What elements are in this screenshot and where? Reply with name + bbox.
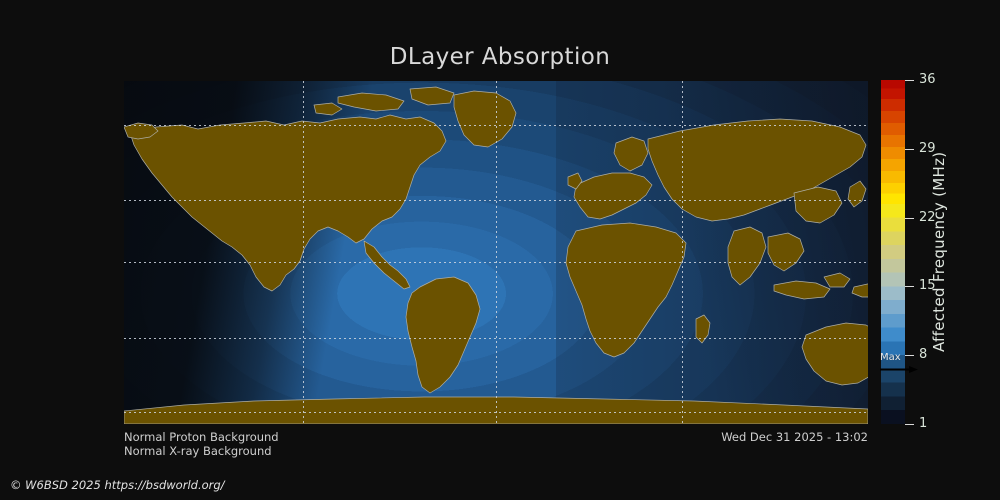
max-marker: Max xyxy=(879,353,925,375)
world-landmasses xyxy=(124,81,868,424)
timestamp: Wed Dec 31 2025 - 13:02 xyxy=(721,430,868,444)
colorbar-axis-label: Affected Frequency (MHz) xyxy=(927,80,951,424)
proton-background-status: Normal Proton Background xyxy=(124,430,279,444)
page-title: DLayer Absorption xyxy=(0,44,1000,70)
colorbar-tick-mark xyxy=(905,424,914,425)
xray-background-status: Normal X-ray Background xyxy=(124,444,272,458)
colorbar-tick-mark xyxy=(905,80,914,81)
dlayer-absorption-page: DLayer Absorption xyxy=(0,0,1000,500)
max-marker-label: Max xyxy=(880,352,901,363)
colorbar-tick-mark xyxy=(905,286,914,287)
copyright-notice: © W6BSD 2025 https://bsdworld.org/ xyxy=(10,478,225,492)
colorbar-tick-mark xyxy=(905,218,914,219)
colorbar-tick-mark xyxy=(905,149,914,150)
absorption-map[interactable] xyxy=(124,81,868,424)
arrow-right-icon xyxy=(880,366,918,373)
